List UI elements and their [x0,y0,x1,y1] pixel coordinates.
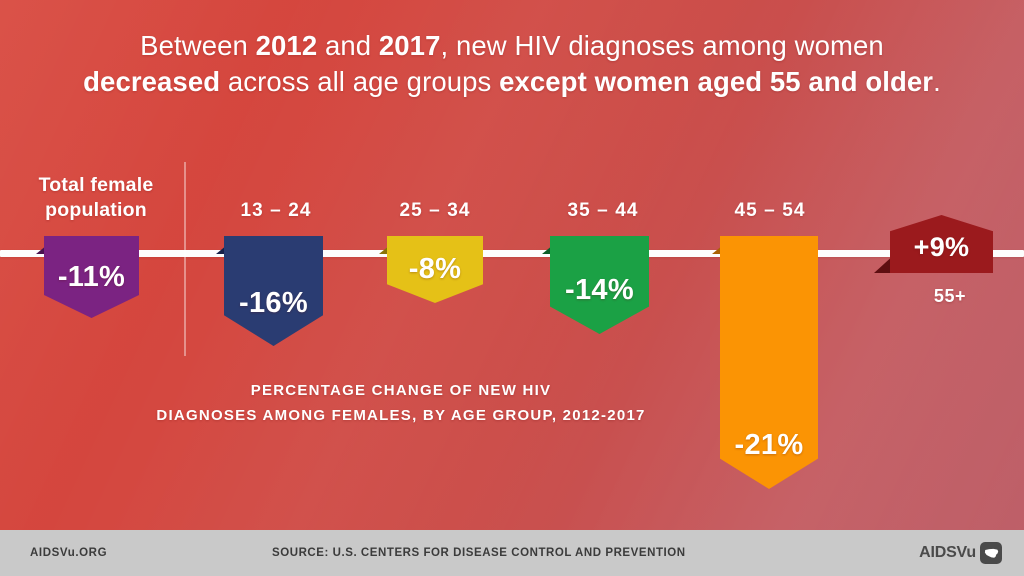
caption-line-1: PERCENTAGE CHANGE OF NEW HIV [96,378,706,403]
bar-value-label: -21% [720,429,818,462]
us-map-icon [980,542,1002,564]
footer-bar: AIDSVu.ORG SOURCE: U.S. CENTERS FOR DISE… [0,530,1024,576]
headline-emphasis-decreased: decreased [83,66,220,97]
headline-year-2012: 2012 [256,30,318,61]
bar-value-label: -11% [44,261,139,294]
bar-total-female-population[interactable]: -11% [44,236,139,318]
headline-line-1: Between 2012 and 2017, new HIV diagnoses… [0,28,1024,64]
headline-emphasis-except: except women aged 55 and older [499,66,933,97]
label-age-55-plus: 55+ [890,286,1010,307]
headline-text: and [317,30,379,61]
bar-age-13-24[interactable]: -16% [224,236,323,346]
infographic-canvas: Between 2012 and 2017, new HIV diagnoses… [0,0,1024,576]
bar-value-label: -8% [387,253,483,286]
aidsvu-logo-wordmark: AIDSVu [919,544,976,562]
bar-age-45-54[interactable]: -21% [720,236,818,489]
bar-value-label: -14% [550,274,649,307]
headline-line-2: decreased across all age groups except w… [0,64,1024,100]
headline-text: across all age groups [220,66,499,97]
aidsvu-logo[interactable]: AIDSVu [919,542,1002,564]
zero-baseline [0,250,1024,257]
label-age-45-54: 45 – 54 [710,200,830,222]
page-title: Between 2012 and 2017, new HIV diagnoses… [0,28,1024,100]
bar-age-35-44[interactable]: -14% [550,236,649,334]
footer-source-text: SOURCE: U.S. CENTERS FOR DISEASE CONTROL… [272,547,686,559]
label-line: population [6,198,186,223]
footer-site-link[interactable]: AIDSVu.ORG [30,547,107,559]
caption-line-2: DIAGNOSES AMONG FEMALES, BY AGE GROUP, 2… [96,403,706,428]
label-line: Total female [6,173,186,198]
headline-year-2017: 2017 [379,30,441,61]
headline-text: , new HIV diagnoses among women [440,30,883,61]
bar-age-25-34[interactable]: -8% [387,236,483,303]
headline-text: Between [140,30,255,61]
label-total-female-population: Total female population [6,173,186,223]
label-age-35-44: 35 – 44 [543,200,663,222]
label-age-13-24: 13 – 24 [216,200,336,222]
label-age-25-34: 25 – 34 [375,200,495,222]
chart-caption: PERCENTAGE CHANGE OF NEW HIV DIAGNOSES A… [96,378,706,428]
bar-age-55-plus[interactable]: +9% [890,215,993,273]
bar-value-label: -16% [224,287,323,320]
headline-text: . [933,66,941,97]
bar-value-label: +9% [890,232,993,263]
